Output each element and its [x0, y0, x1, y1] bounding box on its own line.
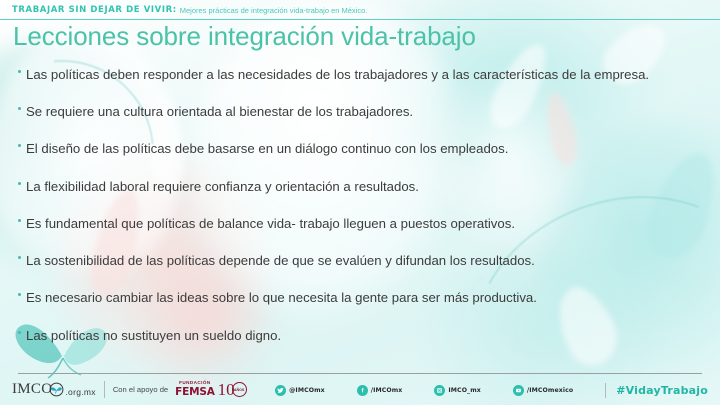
- bullet-dot-icon: [18, 107, 21, 110]
- list-item: La sostenibilidad de las políticas depen…: [18, 248, 708, 274]
- footer-branding: IMCO .org.mx Con el apoyo de FUNDACIÓN F…: [12, 381, 247, 398]
- bullet-text: La flexibilidad laboral requiere confian…: [26, 174, 419, 200]
- bullet-dot-icon: [18, 70, 21, 73]
- bullet-text: Las políticas deben responder a las nece…: [26, 62, 649, 88]
- bullet-text: Se requiere una cultura orientada al bie…: [26, 99, 413, 125]
- list-item: Las políticas deben responder a las nece…: [18, 62, 708, 88]
- sponsor-logo: FUNDACIÓN FEMSA 10 AÑOS: [175, 381, 246, 398]
- page-title: Lecciones sobre integración vida-trabajo: [13, 21, 476, 52]
- bullet-dot-icon: [18, 293, 21, 296]
- bullet-dot-icon: [18, 256, 21, 259]
- footer-social-bar: @IMCOmx /IMCOmx IMCO_mx: [275, 383, 708, 398]
- bullet-list: Las políticas deben responder a las nece…: [18, 62, 708, 360]
- footer-left-divider: [104, 381, 105, 398]
- bullet-dot-icon: [18, 331, 21, 334]
- list-item: Se requiere una cultura orientada al bie…: [18, 99, 708, 125]
- imco-domain-text: .org.mx: [65, 387, 95, 397]
- slide-footer: IMCO .org.mx Con el apoyo de FUNDACIÓN F…: [0, 374, 720, 405]
- social-link-twitter[interactable]: @IMCOmx: [275, 385, 325, 396]
- bullet-dot-icon: [18, 144, 21, 147]
- list-item: La flexibilidad laboral requiere confian…: [18, 174, 708, 200]
- campaign-hashtag: #VidayTrabajo: [616, 384, 708, 397]
- header-divider: [0, 19, 720, 20]
- bullet-text: Es fundamental que políticas de balance …: [26, 211, 515, 237]
- anniversary-ring-icon: AÑOS: [232, 382, 247, 397]
- header-subtitle: Mejores prácticas de integración vida-tr…: [180, 6, 368, 15]
- social-handle-instagram: IMCO_mx: [448, 387, 481, 394]
- bullet-dot-icon: [18, 219, 21, 222]
- bullet-text: Las políticas no sustituyen un sueldo di…: [26, 323, 281, 349]
- list-item: Es necesario cambiar las ideas sobre lo …: [18, 285, 708, 311]
- social-link-youtube[interactable]: /IMCOmexico: [513, 385, 573, 396]
- imco-logo-text: IMCO: [12, 381, 52, 398]
- support-label: Con el apoyo de: [113, 385, 168, 394]
- bullet-text: Es necesario cambiar las ideas sobre lo …: [26, 285, 537, 311]
- anniversary-mark: 10 AÑOS: [218, 381, 247, 398]
- sponsor-name: FEMSA: [175, 387, 214, 398]
- twitter-icon: [275, 385, 286, 396]
- instagram-icon: [434, 385, 445, 396]
- social-handle-youtube: /IMCOmexico: [527, 387, 573, 394]
- bullet-dot-icon: [18, 182, 21, 185]
- facebook-icon: [357, 385, 368, 396]
- social-link-instagram[interactable]: IMCO_mx: [434, 385, 481, 396]
- footer-right-divider: [605, 383, 606, 398]
- list-item: El diseño de las políticas debe basarse …: [18, 136, 708, 162]
- social-handle-twitter: @IMCOmx: [289, 387, 325, 394]
- list-item: Las políticas no sustituyen un sueldo di…: [18, 323, 708, 349]
- social-link-facebook[interactable]: /IMCOmx: [357, 385, 403, 396]
- social-handle-facebook: /IMCOmx: [371, 387, 403, 394]
- anniversary-unit: AÑOS: [234, 388, 244, 392]
- imco-logo: IMCO .org.mx: [12, 381, 96, 398]
- presentation-slide: TRABAJAR SIN DEJAR DE VIVIR: Mejores prá…: [0, 0, 720, 405]
- youtube-icon: [513, 385, 524, 396]
- list-item: Es fundamental que políticas de balance …: [18, 211, 708, 237]
- bullet-text: La sostenibilidad de las políticas depen…: [26, 248, 535, 274]
- imco-butterfly-icon: [49, 382, 64, 397]
- header-kicker: TRABAJAR SIN DEJAR DE VIVIR:: [12, 5, 177, 15]
- bullet-text: El diseño de las políticas debe basarse …: [26, 136, 508, 162]
- slide-header: TRABAJAR SIN DEJAR DE VIVIR: Mejores prá…: [0, 0, 720, 20]
